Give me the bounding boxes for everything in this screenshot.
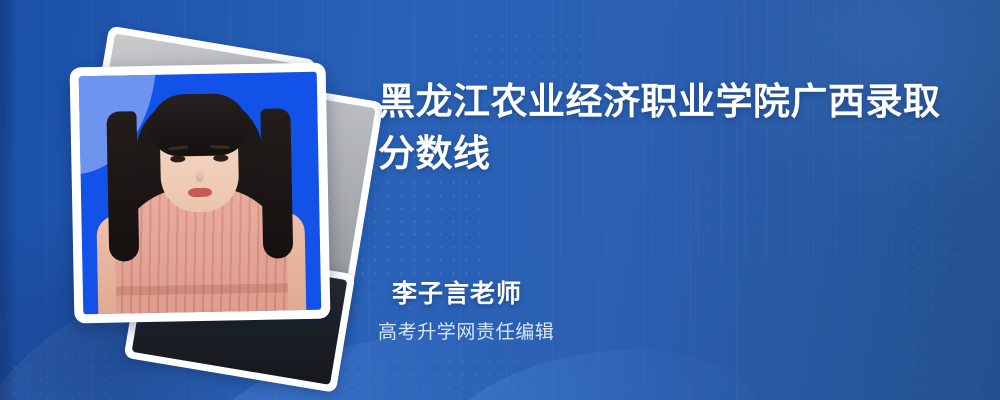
portrait-figure: [79, 72, 322, 315]
hair-front: [149, 93, 248, 157]
hair-side-right: [260, 108, 293, 259]
background-edge-shade: [0, 0, 18, 400]
author-role: 高考升学网责任编辑: [378, 317, 554, 344]
text-column: 黑龙江农业经济职业学院广西录取分数线 李子言老师 高考升学网责任编辑: [374, 0, 984, 400]
lips: [188, 188, 212, 197]
nose: [196, 170, 204, 182]
portrait-photo: [79, 72, 322, 315]
hair-side-left: [106, 111, 139, 262]
front-photo-card: [70, 63, 331, 324]
photo-card-stack: [40, 28, 350, 373]
author-name: 李子言老师: [392, 274, 522, 310]
promo-banner: 黑龙江农业经济职业学院广西录取分数线 李子言老师 高考升学网责任编辑: [0, 0, 1000, 400]
page-title: 黑龙江农业经济职业学院广西录取分数线: [378, 76, 964, 180]
